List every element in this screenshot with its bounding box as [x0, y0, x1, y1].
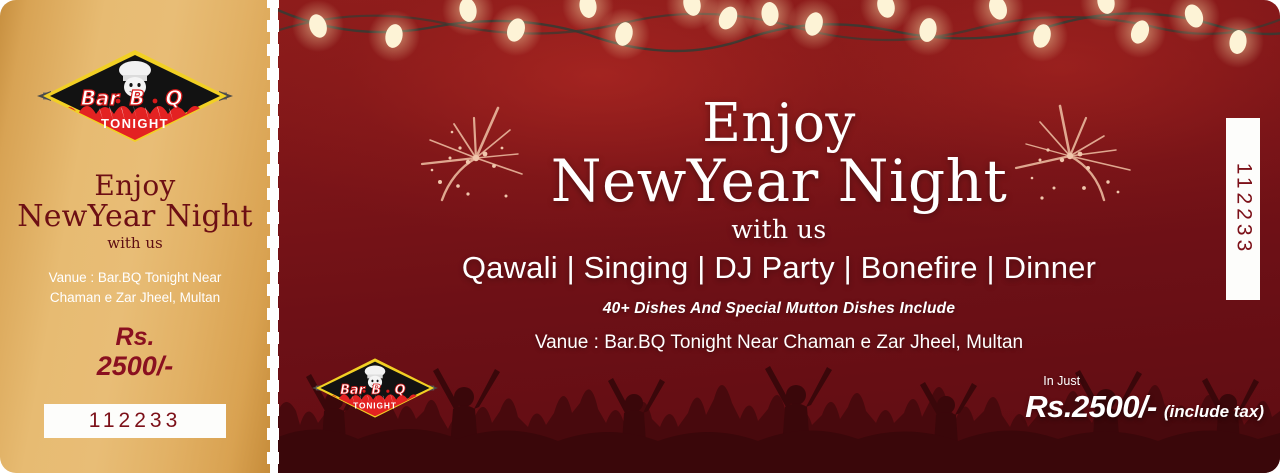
perforation-hole: [267, 308, 279, 320]
svg-text:TONIGHT: TONIGHT: [101, 116, 169, 131]
perforation-hole: [267, 68, 279, 80]
main-headline: Enjoy NewYear Night with us: [278, 98, 1280, 242]
stub-venue: Vanue : Bar.BQ Tonight Near Chaman e Zar…: [0, 268, 270, 307]
stub-venue-line2: Chaman e Zar Jheel, Multan: [0, 288, 270, 308]
perforation-hole: [267, 20, 279, 32]
perforation-hole: [267, 44, 279, 56]
brand-logo-main: BarBQ TONIGHT: [312, 357, 438, 424]
stub-headline-line2: NewYear Night: [0, 202, 270, 232]
svg-text:Q: Q: [165, 86, 182, 110]
main-price-note: (include tax): [1164, 402, 1264, 422]
perforation-hole: [267, 356, 279, 368]
chef-diamond-logo-icon: Bar B Q TONIGHT: [37, 48, 233, 144]
stub-serial-box: 112233: [44, 404, 226, 438]
main-headline-line2: NewYear Night: [278, 153, 1280, 210]
perforation-hole: [267, 164, 279, 176]
main-acts-list: Qawali | Singing | DJ Party | Bonefire |…: [278, 250, 1280, 286]
perforation-hole: [267, 260, 279, 272]
stub-price-currency: Rs.: [0, 325, 270, 350]
main-venue: Vanue : Bar.BQ Tonight Near Chaman e Zar…: [278, 332, 1280, 354]
event-ticket: Bar B Q TONIGHT Enjoy NewYear Night with…: [0, 0, 1280, 473]
perforation-hole: [267, 212, 279, 224]
stub-price: Rs. 2500/-: [0, 325, 270, 380]
ticket-main-panel: Enjoy NewYear Night with us Qawali | Sin…: [278, 0, 1280, 473]
main-headline-line1: Enjoy: [278, 98, 1280, 150]
perforation-hole: [267, 0, 279, 8]
stub-headline-line3: with us: [0, 236, 270, 251]
main-serial-number: 112233: [1231, 163, 1255, 256]
main-serial-box: 112233: [1226, 118, 1260, 300]
perforation-hole: [267, 284, 279, 296]
perforation-hole: [267, 332, 279, 344]
stub-headline: Enjoy NewYear Night with us: [0, 172, 270, 251]
stub-price-amount: 2500/-: [0, 353, 270, 380]
svg-text:Bar: Bar: [81, 86, 121, 110]
chef-diamond-logo-icon: BarBQ TONIGHT: [312, 357, 438, 419]
perforation-hole: [267, 188, 279, 200]
stub-serial-number: 112233: [89, 409, 182, 433]
perforation-hole: [267, 404, 279, 416]
perforation-hole: [267, 116, 279, 128]
string-lights-icon: [278, 0, 1280, 84]
main-price-amount: Rs.2500/-: [1025, 389, 1157, 425]
main-headline-line3: with us: [278, 218, 1280, 243]
brand-logo-stub: Bar B Q TONIGHT: [37, 48, 233, 149]
stub-venue-line1: Vanue : Bar.BQ Tonight Near: [0, 268, 270, 288]
perforation-hole: [267, 428, 279, 440]
perforation-hole: [267, 140, 279, 152]
svg-text:Bar: Bar: [340, 383, 365, 398]
stub-headline-line1: Enjoy: [0, 172, 270, 200]
perforation-hole: [267, 92, 279, 104]
svg-text:TONIGHT: TONIGHT: [353, 401, 397, 411]
main-dishes-note: 40+ Dishes And Special Mutton Dishes Inc…: [278, 300, 1280, 318]
perforation-strip: [266, 0, 280, 473]
main-price-block: In Just Rs.2500/- (include tax): [1025, 374, 1264, 425]
ticket-stub: Bar B Q TONIGHT Enjoy NewYear Night with…: [0, 0, 270, 473]
perforation-hole: [267, 236, 279, 248]
main-price-prefix: In Just: [1043, 374, 1264, 388]
perforation-hole: [267, 380, 279, 392]
svg-text:B: B: [371, 383, 381, 398]
svg-text:B: B: [129, 86, 144, 110]
perforation-hole: [267, 452, 279, 464]
svg-text:Q: Q: [395, 383, 406, 398]
